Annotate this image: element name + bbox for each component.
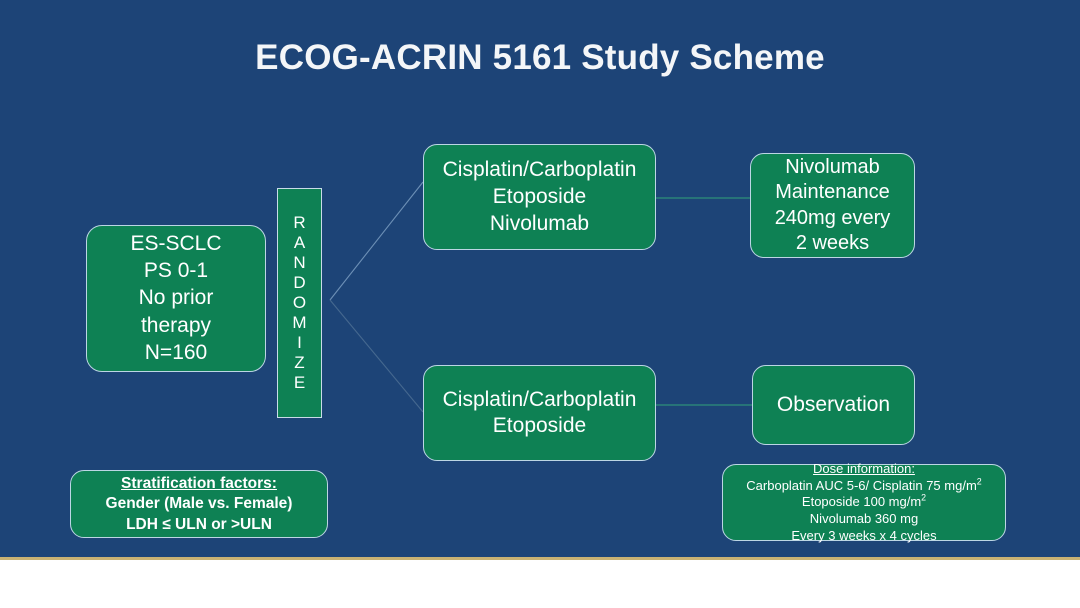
- eligibility-line: PS 0-1: [87, 258, 265, 284]
- maintenance-line: Nivolumab: [751, 155, 914, 180]
- dose-superscript: 2: [977, 476, 982, 486]
- observation-label: Observation: [777, 392, 890, 418]
- treatment-arm-b-box: Cisplatin/Carboplatin Etoposide: [423, 365, 656, 461]
- nivolumab-maintenance-box: Nivolumab Maintenance 240mg every 2 week…: [750, 153, 915, 258]
- eligibility-box: ES-SCLC PS 0-1 No prior therapy N=160: [86, 225, 266, 372]
- maintenance-line: Maintenance: [751, 180, 914, 205]
- observation-box: Observation: [752, 365, 915, 445]
- dose-line: Every 3 weeks x 4 cycles: [723, 528, 1005, 544]
- arm-a-line: Cisplatin/Carboplatin: [424, 157, 655, 183]
- maintenance-line: 2 weeks: [751, 231, 914, 256]
- slide-canvas: ECOG-ACRIN 5161 Study Scheme ES-SCLC PS …: [0, 0, 1080, 557]
- randomize-letter: M: [292, 313, 306, 333]
- randomize-letter: R: [293, 213, 305, 233]
- dose-header: Dose information:: [723, 461, 1005, 477]
- eligibility-line: therapy: [87, 313, 265, 339]
- dose-information-box: Dose information: Carboplatin AUC 5-6/ C…: [722, 464, 1006, 541]
- arm-b-line: Cisplatin/Carboplatin: [424, 387, 655, 413]
- stratification-line: Gender (Male vs. Female): [71, 494, 327, 513]
- randomize-letter: Z: [294, 353, 304, 373]
- dose-text: Carboplatin AUC 5-6/ Cisplatin 75 mg/m: [746, 478, 977, 493]
- stratification-header: Stratification factors:: [71, 474, 327, 493]
- arm-a-line: Etoposide: [424, 184, 655, 210]
- randomize-letter: E: [294, 373, 305, 393]
- eligibility-line: No prior: [87, 285, 265, 311]
- randomize-letter: O: [293, 293, 306, 313]
- stratification-factors-box: Stratification factors: Gender (Male vs.…: [70, 470, 328, 538]
- randomize-box: R A N D O M I Z E: [277, 188, 322, 418]
- dose-line: Carboplatin AUC 5-6/ Cisplatin 75 mg/m2: [723, 478, 1005, 494]
- eligibility-line: ES-SCLC: [87, 231, 265, 257]
- treatment-arm-a-box: Cisplatin/Carboplatin Etoposide Nivoluma…: [423, 144, 656, 250]
- randomize-letter: A: [294, 233, 305, 253]
- slide-root: ECOG-ACRIN 5161 Study Scheme ES-SCLC PS …: [0, 0, 1080, 608]
- eligibility-line: N=160: [87, 340, 265, 366]
- slide-footer: PRESENTED AT: 2020ASCO® ANNUAL MEETING #…: [0, 560, 1080, 608]
- dose-line: Nivolumab 360 mg: [723, 511, 1005, 527]
- dose-text: Etoposide 100 mg/m: [802, 494, 921, 509]
- randomize-letter: D: [293, 273, 305, 293]
- arm-b-line: Etoposide: [424, 413, 655, 439]
- dose-line: Etoposide 100 mg/m2: [723, 494, 1005, 510]
- dose-superscript: 2: [921, 493, 926, 503]
- stratification-line: LDH ≤ ULN or >ULN: [71, 515, 327, 534]
- maintenance-line: 240mg every: [751, 206, 914, 231]
- randomize-letter: I: [297, 333, 302, 353]
- randomize-letter: N: [293, 253, 305, 273]
- arm-a-line: Nivolumab: [424, 211, 655, 237]
